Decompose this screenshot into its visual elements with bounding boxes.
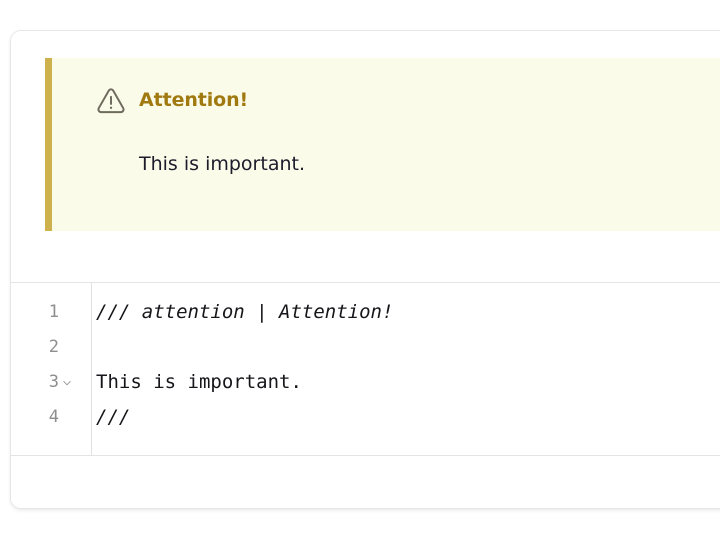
card-footer — [11, 456, 720, 508]
line-number: 1 — [49, 295, 59, 330]
code-line-text[interactable]: /// attention | Attention! — [81, 295, 720, 330]
code-line[interactable]: 2 — [11, 330, 720, 365]
code-fold-toggle[interactable] — [59, 378, 75, 388]
admonition-title-row: Attention! — [96, 85, 248, 115]
line-number-gutter: 3 — [11, 365, 81, 400]
warning-triangle-icon — [96, 85, 126, 115]
code-editor-pane[interactable]: 1/// attention | Attention!23This is imp… — [11, 283, 720, 456]
code-line-text[interactable]: This is important. — [81, 365, 720, 400]
line-number: 2 — [49, 330, 59, 365]
line-number-gutter: 4 — [11, 400, 81, 435]
screenshot-root: Attention! This is important. 1/// atten… — [0, 0, 720, 544]
admonition-attention: Attention! This is important. — [45, 58, 720, 231]
code-line-text[interactable]: /// — [81, 400, 720, 435]
line-number: 3 — [49, 365, 59, 400]
line-number: 4 — [49, 400, 59, 435]
chevron-down-icon — [62, 378, 72, 388]
line-number-gutter: 1 — [11, 295, 81, 330]
line-number-gutter: 2 — [11, 330, 81, 365]
admonition-title: Attention! — [139, 89, 248, 111]
code-line[interactable]: 1/// attention | Attention! — [11, 295, 720, 330]
admonition-body-text: This is important. — [139, 153, 305, 175]
code-lines-container[interactable]: 1/// attention | Attention!23This is imp… — [11, 283, 720, 435]
rendered-preview-pane: Attention! This is important. — [11, 31, 720, 283]
code-line[interactable]: 4/// — [11, 400, 720, 435]
preview-card: Attention! This is important. 1/// atten… — [10, 30, 720, 509]
code-line[interactable]: 3This is important. — [11, 365, 720, 400]
